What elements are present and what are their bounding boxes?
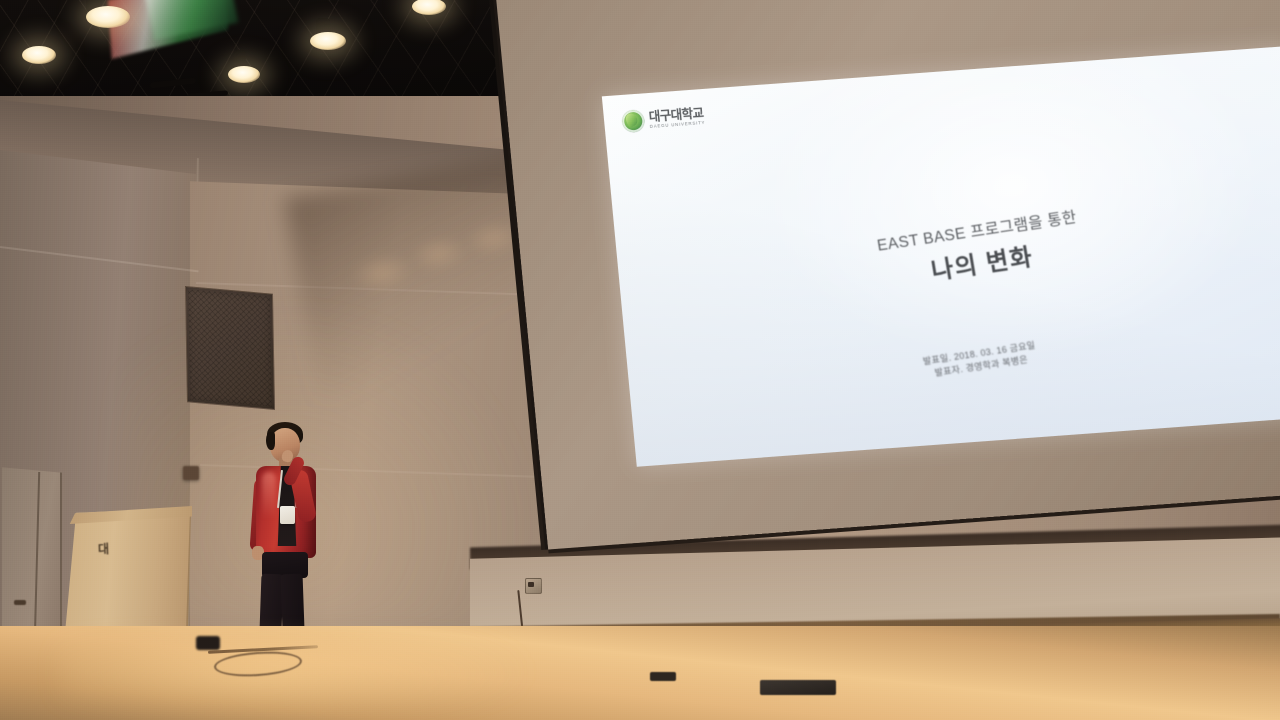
spotlight-4-icon (310, 32, 346, 50)
podium-emblem-icon: 대 (98, 540, 113, 556)
presenter-hair-side (266, 432, 275, 450)
acoustic-vent-panel (185, 286, 275, 410)
slide-title-block: EAST BASE 프로그램을 통한 나의 변화 (797, 193, 1163, 304)
door-handle[interactable] (14, 600, 26, 605)
spotlight-3-icon (228, 66, 260, 83)
spotlight-1-icon (86, 6, 130, 28)
floor-monitor (760, 680, 836, 695)
daegu-university-emblem-icon (621, 109, 645, 133)
slide-meta-block: 발표일. 2018. 03. 16 금요일 발표자. 경영학과 복병은 (840, 327, 1121, 394)
projected-slide: 대구대학교 DAEGU UNIVERSITY EAST BASE 프로그램을 통… (602, 46, 1280, 467)
photo-scene: 대구대학교 DAEGU UNIVERSITY EAST BASE 프로그램을 통… (0, 0, 1280, 720)
floor-object-small (196, 636, 220, 650)
outlet-socket-icon (528, 582, 534, 587)
logo-text: 대구대학교 DAEGU UNIVERSITY (648, 107, 705, 129)
projection-screen: 대구대학교 DAEGU UNIVERSITY EAST BASE 프로그램을 통… (494, 0, 1280, 553)
spotlight-2-icon (22, 46, 56, 64)
presenter-name-badge (280, 506, 295, 524)
presenter-jacket-highlight (262, 472, 276, 530)
floor-warm-light (60, 640, 520, 720)
vent-grille-texture (188, 289, 272, 406)
university-logo: 대구대학교 DAEGU UNIVERSITY (621, 105, 705, 133)
wall-fixture (183, 466, 199, 480)
floor-monitor-small (650, 672, 676, 681)
